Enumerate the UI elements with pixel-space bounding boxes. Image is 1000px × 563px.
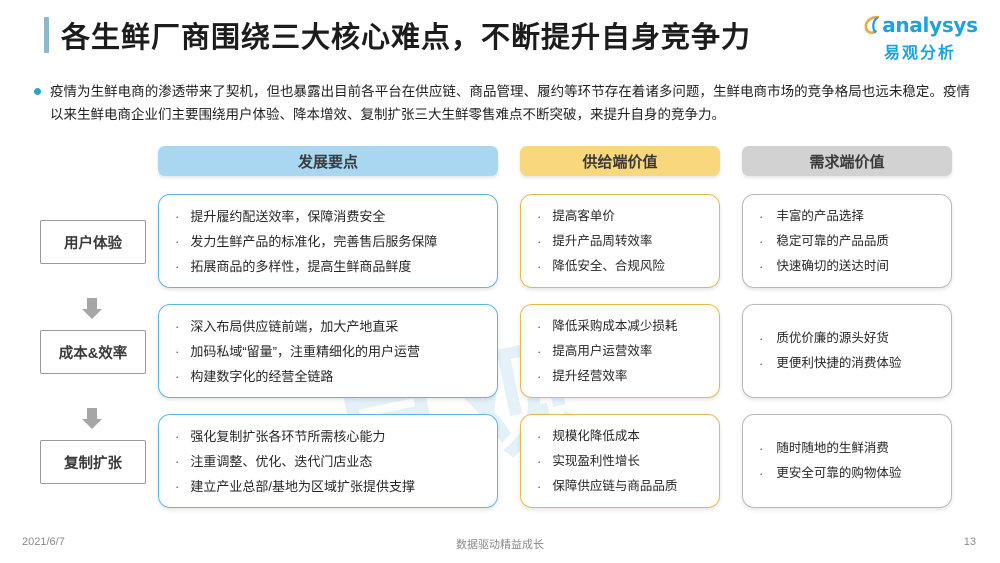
title-accent-bar: [44, 17, 49, 53]
bullet-icon: ·: [537, 364, 541, 389]
list-item: ·稳定可靠的产品品质: [757, 229, 941, 254]
bullet-icon: ·: [175, 254, 179, 279]
bullet-list: ·深入布局供应链前端，加大产地直采 ·加码私域“留量”，注重精细化的用户运营 ·…: [173, 314, 487, 389]
list-item-text: 构建数字化的经营全链路: [190, 364, 333, 389]
bullet-list: ·提升履约配送效率，保障消费安全 ·发力生鲜产品的标准化，完善售后服务保障 ·拓…: [173, 204, 487, 279]
bullet-icon: ·: [759, 229, 763, 254]
list-item-text: 质优价廉的源头好货: [776, 326, 889, 351]
list-item: ·规模化降低成本: [535, 424, 709, 449]
matrix-row: 用户体验 ·提升履约配送效率，保障消费安全 ·发力生鲜产品的标准化，完善售后服务…: [0, 194, 1000, 294]
list-item: ·构建数字化的经营全链路: [173, 364, 487, 389]
matrix-rows: 用户体验 ·提升履约配送效率，保障消费安全 ·发力生鲜产品的标准化，完善售后服务…: [0, 194, 1000, 514]
list-item-text: 加码私域“留量”，注重精细化的用户运营: [190, 339, 420, 364]
bullet-icon: ·: [537, 449, 541, 474]
list-item: ·提升履约配送效率，保障消费安全: [173, 204, 487, 229]
matrix-row: 复制扩张 ·强化复制扩张各环节所需核心能力 ·注重调整、优化、迭代门店业态 ·建…: [0, 414, 1000, 514]
list-item-text: 提高用户运营效率: [552, 339, 652, 364]
list-item-text: 丰富的产品选择: [776, 204, 864, 229]
list-item: ·提升产品周转效率: [535, 229, 709, 254]
list-item-text: 规模化降低成本: [552, 424, 640, 449]
bullet-icon: ·: [175, 339, 179, 364]
list-item: ·提升经营效率: [535, 364, 709, 389]
list-item: ·提高客单价: [535, 204, 709, 229]
list-item: ·降低采购成本减少损耗: [535, 314, 709, 339]
list-item: ·提高用户运营效率: [535, 339, 709, 364]
list-item-text: 提高客单价: [552, 204, 615, 229]
list-item: ·保障供应链与商品品质: [535, 474, 709, 499]
list-item-text: 保障供应链与商品品质: [552, 474, 677, 499]
bullet-icon: ·: [175, 474, 179, 499]
bullet-dot-icon: [34, 88, 41, 95]
list-item: ·质优价廉的源头好货: [757, 326, 941, 351]
cell-supply-row2: ·降低采购成本减少损耗 ·提高用户运营效率 ·提升经营效率: [520, 304, 720, 398]
bullet-icon: ·: [759, 326, 763, 351]
slide-header: 各生鲜厂商围绕三大核心难点，不断提升自身竞争力 analysys 易观分析: [0, 0, 1000, 68]
bullet-icon: ·: [175, 314, 179, 339]
brand-logo: analysys 易观分析: [856, 12, 984, 63]
list-item-text: 更便利快捷的消费体验: [776, 351, 901, 376]
list-item-text: 降低安全、合规风险: [552, 254, 665, 279]
list-item: ·丰富的产品选择: [757, 204, 941, 229]
cell-demand-row2: ·质优价廉的源头好货 ·更便利快捷的消费体验: [742, 304, 952, 398]
footer-slogan: 数据驱动精益成长: [0, 536, 1000, 552]
bullet-icon: ·: [537, 314, 541, 339]
column-header-supply-value: 供给端价值: [520, 146, 720, 176]
list-item-text: 强化复制扩张各环节所需核心能力: [190, 424, 385, 449]
list-item: ·降低安全、合规风险: [535, 254, 709, 279]
list-item: ·拓展商品的多样性，提高生鲜商品鲜度: [173, 254, 487, 279]
list-item-text: 提升产品周转效率: [552, 229, 652, 254]
bullet-icon: ·: [537, 254, 541, 279]
row-label-replication-expansion: 复制扩张: [40, 440, 146, 484]
cell-development-row3: ·强化复制扩张各环节所需核心能力 ·注重调整、优化、迭代门店业态 ·建立产业总部…: [158, 414, 498, 508]
bullet-icon: ·: [175, 204, 179, 229]
footer-page-number: 13: [964, 536, 976, 548]
list-item-text: 提升履约配送效率，保障消费安全: [190, 204, 385, 229]
cell-demand-row3: ·随时随地的生鲜消费 ·更安全可靠的购物体验: [742, 414, 952, 508]
bullet-icon: ·: [537, 339, 541, 364]
matrix-row: 成本&效率 ·深入布局供应链前端，加大产地直采 ·加码私域“留量”，注重精细化的…: [0, 304, 1000, 404]
list-item-text: 深入布局供应链前端，加大产地直采: [190, 314, 398, 339]
slide-footer: 2021/6/7 数据驱动精益成长 13: [0, 528, 1000, 563]
column-headers: 发展要点 供给端价值 需求端价值: [0, 142, 1000, 184]
bullet-list: ·规模化降低成本 ·实现盈利性增长 ·保障供应链与商品品质: [535, 424, 709, 499]
title-text: 各生鲜厂商围绕三大核心难点，不断提升自身竞争力: [61, 14, 751, 56]
matrix: 发展要点 供给端价值 需求端价值 用户体验 ·提升履约配送效率，保障消费安全 ·…: [0, 142, 1000, 524]
analysys-mark-icon: [862, 14, 884, 36]
list-item: ·快速确切的送达时间: [757, 254, 941, 279]
list-item: ·实现盈利性增长: [535, 449, 709, 474]
list-item-text: 降低采购成本减少损耗: [552, 314, 677, 339]
column-header-development: 发展要点: [158, 146, 498, 176]
list-item-text: 拓展商品的多样性，提高生鲜商品鲜度: [190, 254, 411, 279]
list-item-text: 快速确切的送达时间: [776, 254, 889, 279]
bullet-icon: ·: [175, 364, 179, 389]
bullet-icon: ·: [537, 474, 541, 499]
list-item-text: 提升经营效率: [552, 364, 627, 389]
list-item-text: 建立产业总部/基地为区域扩张提供支撑: [190, 474, 415, 499]
bullet-icon: ·: [759, 254, 763, 279]
list-item: ·更安全可靠的购物体验: [757, 461, 941, 486]
cell-supply-row1: ·提高客单价 ·提升产品周转效率 ·降低安全、合规风险: [520, 194, 720, 288]
list-item: ·随时随地的生鲜消费: [757, 436, 941, 461]
bullet-icon: ·: [537, 229, 541, 254]
column-header-demand-value: 需求端价值: [742, 146, 952, 176]
bullet-icon: ·: [759, 436, 763, 461]
bullet-icon: ·: [759, 351, 763, 376]
list-item: ·更便利快捷的消费体验: [757, 351, 941, 376]
cell-supply-row3: ·规模化降低成本 ·实现盈利性增长 ·保障供应链与商品品质: [520, 414, 720, 508]
list-item-text: 更安全可靠的购物体验: [776, 461, 901, 486]
lead-paragraph: 疫情为生鲜电商的渗透带来了契机，但也暴露出目前各平台在供应链、商品管理、履约等环…: [34, 80, 970, 126]
list-item-text: 注重调整、优化、迭代门店业态: [190, 449, 372, 474]
list-item: ·发力生鲜产品的标准化，完善售后服务保障: [173, 229, 487, 254]
page-title: 各生鲜厂商围绕三大核心难点，不断提升自身竞争力: [44, 14, 751, 56]
list-item-text: 稳定可靠的产品品质: [776, 229, 889, 254]
bullet-icon: ·: [175, 229, 179, 254]
row-label-cost-efficiency: 成本&效率: [40, 330, 146, 374]
row-label-user-experience: 用户体验: [40, 220, 146, 264]
logo-chinese-name: 易观分析: [856, 39, 984, 63]
bullet-list: ·丰富的产品选择 ·稳定可靠的产品品质 ·快速确切的送达时间: [757, 204, 941, 279]
bullet-icon: ·: [537, 204, 541, 229]
list-item: ·注重调整、优化、迭代门店业态: [173, 449, 487, 474]
list-item: ·建立产业总部/基地为区域扩张提供支撑: [173, 474, 487, 499]
list-item-text: 发力生鲜产品的标准化，完善售后服务保障: [190, 229, 437, 254]
cell-demand-row1: ·丰富的产品选择 ·稳定可靠的产品品质 ·快速确切的送达时间: [742, 194, 952, 288]
logo-wordmark: analysys: [882, 13, 978, 37]
list-item-text: 实现盈利性增长: [552, 449, 640, 474]
bullet-list: ·提高客单价 ·提升产品周转效率 ·降低安全、合规风险: [535, 204, 709, 279]
list-item: ·加码私域“留量”，注重精细化的用户运营: [173, 339, 487, 364]
bullet-list: ·随时随地的生鲜消费 ·更安全可靠的购物体验: [757, 436, 941, 486]
list-item-text: 随时随地的生鲜消费: [776, 436, 889, 461]
lead-paragraph-text: 疫情为生鲜电商的渗透带来了契机，但也暴露出目前各平台在供应链、商品管理、履约等环…: [50, 80, 970, 126]
bullet-list: ·降低采购成本减少损耗 ·提高用户运营效率 ·提升经营效率: [535, 314, 709, 389]
bullet-icon: ·: [537, 424, 541, 449]
cell-development-row1: ·提升履约配送效率，保障消费安全 ·发力生鲜产品的标准化，完善售后服务保障 ·拓…: [158, 194, 498, 288]
bullet-icon: ·: [759, 204, 763, 229]
cell-development-row2: ·深入布局供应链前端，加大产地直采 ·加码私域“留量”，注重精细化的用户运营 ·…: [158, 304, 498, 398]
list-item: ·强化复制扩张各环节所需核心能力: [173, 424, 487, 449]
list-item: ·深入布局供应链前端，加大产地直采: [173, 314, 487, 339]
bullet-icon: ·: [759, 461, 763, 486]
bullet-list: ·强化复制扩张各环节所需核心能力 ·注重调整、优化、迭代门店业态 ·建立产业总部…: [173, 424, 487, 499]
bullet-list: ·质优价廉的源头好货 ·更便利快捷的消费体验: [757, 326, 941, 376]
bullet-icon: ·: [175, 449, 179, 474]
bullet-icon: ·: [175, 424, 179, 449]
